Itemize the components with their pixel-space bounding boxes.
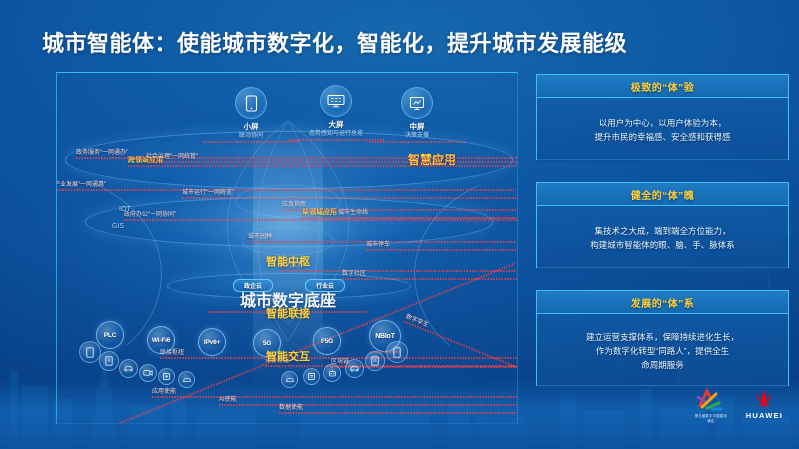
interact-device-car[interactable] xyxy=(178,371,195,388)
interact-device-sensor[interactable] xyxy=(158,368,175,385)
card-body: 建立运营支撑体系，保障持续进化生长， 作为数字化转型“同路人”，提供全生 命周期… xyxy=(537,314,788,388)
base-tag[interactable]: IOT xyxy=(119,206,131,214)
card-body-text: 以用户为中心，以用户体验为本， 提升市民的幸福感、安全感和获得感 xyxy=(594,116,730,144)
connect-layer-title: 智能联接 xyxy=(238,305,338,321)
page-title: 城市智能体：使能城市数字化，智能化，提升城市发展能级 xyxy=(42,26,627,58)
interact-device-robot[interactable] xyxy=(323,364,341,382)
interact-device-bus[interactable] xyxy=(345,359,364,378)
card-heading: 健全的“体”魄 xyxy=(537,183,788,206)
hub-layer-ellipse xyxy=(167,273,411,299)
base-tag[interactable]: GIS xyxy=(112,223,124,231)
card-sound-physique[interactable]: 健全的“体”魄 集技术之大成，端到端全方位能力， 构建城市智能体的眼、脑、手、脉… xyxy=(536,182,789,268)
base-tag[interactable]: AI使能 xyxy=(219,396,518,404)
digital-base-layer-ellipse xyxy=(85,197,493,247)
huawei-wordmark: HUAWEI xyxy=(746,411,783,420)
device-name: 中屏 xyxy=(369,122,465,132)
interact-device-gateway[interactable] xyxy=(365,351,385,371)
interact-device-phone[interactable] xyxy=(79,341,101,363)
interact-layer-title: 智能交互 xyxy=(238,348,338,364)
desktop-monitor-icon xyxy=(401,87,433,119)
interact-device-car-right[interactable] xyxy=(281,371,298,388)
card-body-text: 集技术之大成，端到端全方位能力， 构建城市智能体的眼、脑、手、脉体系 xyxy=(590,224,735,252)
interact-device-pad[interactable] xyxy=(386,341,408,363)
big-screen-icon xyxy=(320,85,352,117)
apps-tag[interactable]: 城市运行“一网统览” xyxy=(182,189,518,197)
interact-device-meter[interactable] xyxy=(303,368,320,385)
interact-device-terminal[interactable] xyxy=(99,351,119,371)
base-tag[interactable]: 应用使能 xyxy=(152,388,518,396)
hub-pill-government-cloud[interactable]: 政企云 xyxy=(233,279,273,292)
event-logo-icon: 第五届数字中国建设峰会 xyxy=(694,387,728,421)
card-heading: 极致的“体”验 xyxy=(537,75,788,98)
card-body-text: 建立运营支撑体系，保障持续进化生长， 作为数字化转型“同路人”，提供全生 命周期… xyxy=(586,330,739,372)
connect-badge-ipv6[interactable]: IPv6+ xyxy=(198,328,226,356)
huawei-flower-icon xyxy=(748,388,780,410)
card-body: 集技术之大成，端到端全方位能力， 构建城市智能体的眼、脑、手、脉体系 xyxy=(537,206,788,270)
smartphone-icon xyxy=(235,87,267,119)
card-heading: 发展的“体”系 xyxy=(537,291,788,314)
card-body: 以用户为中心，以用户体验为本， 提升市民的幸福感、安全感和获得感 xyxy=(537,98,788,162)
interact-device-camera[interactable] xyxy=(139,364,157,382)
apps-tag[interactable]: 产业发展“一网通惠” xyxy=(56,181,514,189)
event-logo-caption: 第五届数字中国建设峰会 xyxy=(694,413,728,423)
card-development-system[interactable]: 发展的“体”系 建立运营支撑体系，保障持续进化生长， 作为数字化转型“同路人”，… xyxy=(536,290,789,386)
apps-tag[interactable]: 社会治理“一网统管” xyxy=(146,153,518,161)
city-intelligent-twins-diagram: 小屏 联动协同 大屏 态势感知与运行总览 中屏 决策支撑 智慧应用 xyxy=(56,72,518,424)
slide-background: 城市智能体：使能城市数字化，智能化，提升城市发展能级 xyxy=(0,0,799,449)
connect-badge-plc[interactable]: PLC xyxy=(96,321,124,349)
connect-badge-wifi6[interactable]: Wi-Fi6 xyxy=(147,326,175,354)
hub-layer-title: 智能中枢 xyxy=(238,253,338,269)
base-tag[interactable]: 数据使能 xyxy=(279,404,518,412)
huawei-logo: HUAWEI xyxy=(746,388,783,420)
interact-device-vehicle[interactable] xyxy=(119,359,138,378)
hub-pill-industry-cloud[interactable]: 行业云 xyxy=(305,279,345,292)
logo-group: 第五届数字中国建设峰会 HUAWEI xyxy=(694,387,783,421)
card-ultimate-experience[interactable]: 极致的“体”验 以用户为中心，以用户体验为本， 提升市民的幸福感、安全感和获得感 xyxy=(536,74,789,160)
